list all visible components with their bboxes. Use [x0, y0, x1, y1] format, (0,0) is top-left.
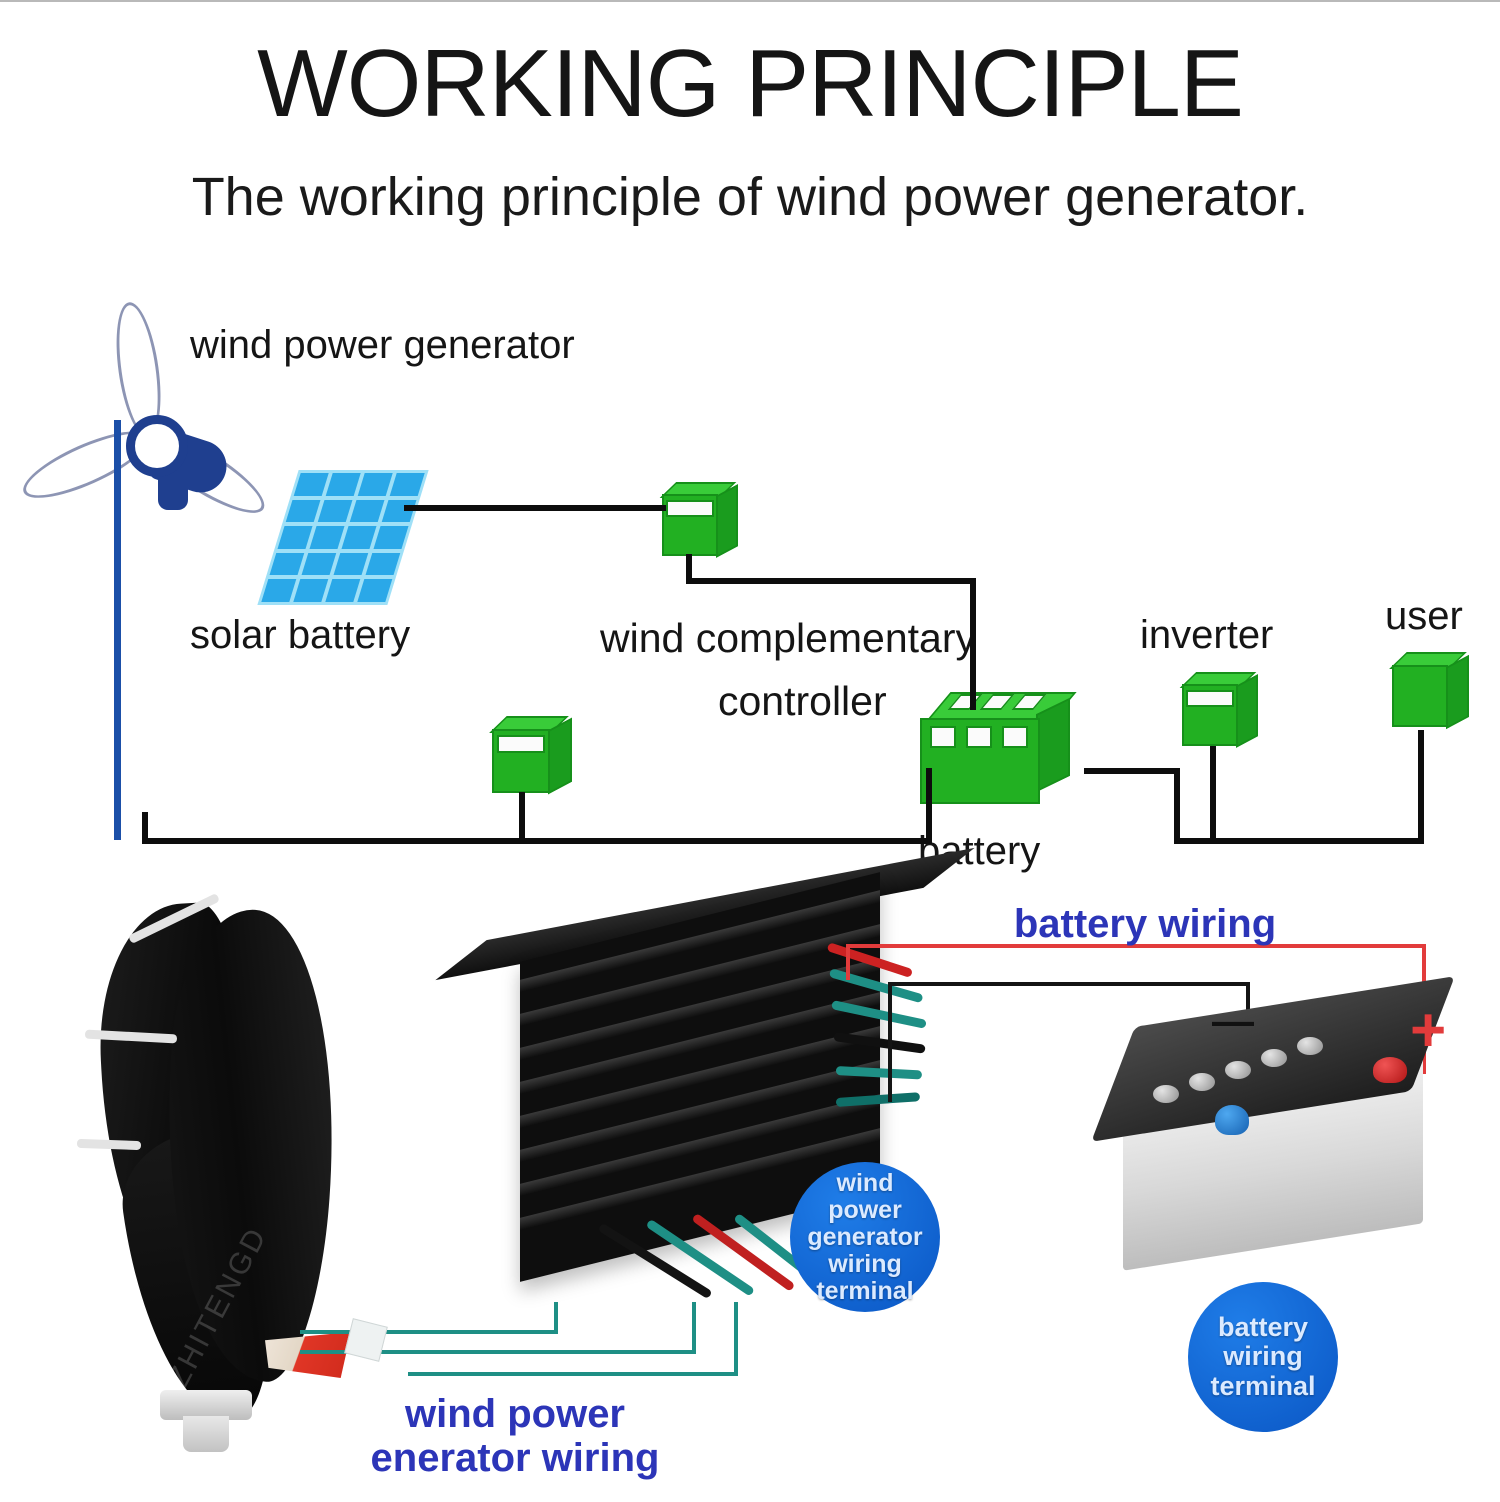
solar-cell: [357, 579, 392, 602]
callout-battery-wiring-terminal: battery wiring terminal: [1188, 1282, 1338, 1432]
wire-battery-to-inverter: [1084, 768, 1180, 774]
generator-wire-h: [408, 1372, 738, 1376]
battery-positive-terminal: [1373, 1057, 1407, 1083]
label-controller-line2: controller: [718, 680, 887, 723]
solar-cell: [294, 473, 329, 496]
solar-cell: [374, 526, 409, 549]
annotation-battery-wiring: battery wiring: [1010, 902, 1280, 946]
box-display-panel: [666, 500, 714, 517]
wire-bus-to-battery: [926, 768, 932, 842]
wire-down-to-battery: [970, 578, 976, 710]
battery-cap: [1225, 1061, 1251, 1079]
generator-wire-h: [300, 1330, 558, 1334]
annotation-generator-wiring-line2: enerator wiring: [340, 1436, 690, 1480]
system-schematic: wind power generator solar battery wind …: [0, 292, 1500, 892]
wire-user-down: [1418, 730, 1424, 842]
box-side-face: [1446, 655, 1469, 729]
annotation-generator-wiring-line1: wind power: [340, 1392, 690, 1436]
vertical-axis-turbine-photo: HUIZHITENGD: [55, 892, 355, 1452]
battery-cap: [1261, 1049, 1287, 1067]
solar-cell: [326, 473, 361, 496]
controller-box-top-icon: [660, 482, 744, 560]
wire-inverter-in-down: [1174, 768, 1180, 844]
wire-solar-to-controller: [404, 505, 666, 511]
solar-cell: [261, 579, 296, 602]
wire-inverter-to-user: [1174, 838, 1424, 844]
inverter-box-icon: [1180, 672, 1266, 752]
wire-bottom-bus: [142, 838, 932, 844]
battery-positive-wire-v: [846, 944, 850, 980]
annotation-generator-wiring: wind power enerator wiring: [340, 1392, 690, 1480]
turbine-base-stem: [183, 1416, 229, 1452]
negative-sign: —: [1212, 1000, 1254, 1042]
page-subtitle: The working principle of wind power gene…: [0, 170, 1500, 224]
solar-cell: [325, 579, 360, 602]
label-user: user: [1385, 595, 1463, 637]
wire-inverter-leg: [1210, 746, 1216, 844]
box-display-panel: [1186, 690, 1234, 707]
solar-cell: [365, 553, 400, 576]
callout-generator-wiring-terminal: wind power generator wiring terminal: [790, 1162, 940, 1312]
box-display-panel: [497, 735, 545, 753]
positive-sign: +: [1410, 1000, 1446, 1062]
box-side-face: [548, 718, 572, 795]
battery-cell: [966, 726, 992, 748]
solar-cell: [318, 500, 353, 523]
solar-cell: [278, 526, 313, 549]
solar-cell: [342, 526, 377, 549]
battery-box-icon: [920, 692, 1080, 812]
solar-cell: [286, 500, 321, 523]
battery-negative-terminal: [1215, 1105, 1249, 1135]
infographic-page: WORKING PRINCIPLE The working principle …: [0, 0, 1500, 1500]
solar-cell: [310, 526, 345, 549]
box-side-face: [716, 484, 738, 558]
solar-cell: [333, 553, 368, 576]
solar-cell: [301, 553, 336, 576]
solar-cell: [390, 473, 425, 496]
battery-cell: [1002, 726, 1028, 748]
solar-cell: [358, 473, 393, 496]
battery-negative-wire-v: [888, 982, 892, 1102]
wire-leftbox-down: [519, 792, 525, 842]
solar-cell: [350, 500, 385, 523]
solar-cell: [293, 579, 328, 602]
wire-mast-corner: [142, 812, 148, 842]
generator-wire-v: [692, 1302, 696, 1354]
turbine-hub: [126, 415, 188, 477]
label-solar-battery: solar battery: [190, 614, 410, 656]
controller-box-left-icon: [490, 716, 580, 798]
label-wind-power-generator: wind power generator: [190, 324, 575, 366]
label-inverter: inverter: [1140, 614, 1273, 656]
label-controller-line1: wind complementary: [600, 617, 976, 660]
turbine-strut: [77, 1139, 141, 1150]
user-box-icon: [1390, 652, 1478, 734]
battery-cap: [1189, 1073, 1215, 1091]
wire-topbox-right: [686, 578, 976, 584]
box-side-face: [1036, 698, 1070, 793]
box-side-face: [1236, 674, 1258, 748]
product-photo-band: HUIZHITENGD: [0, 882, 1500, 1502]
battery-cap: [1153, 1085, 1179, 1103]
battery-cell: [930, 726, 956, 748]
generator-wire-v: [734, 1302, 738, 1376]
battery-cap: [1297, 1037, 1323, 1055]
solar-cell: [269, 553, 304, 576]
car-battery-photo: [1105, 977, 1445, 1277]
turbine-mast: [114, 420, 121, 840]
page-title: WORKING PRINCIPLE: [0, 36, 1500, 132]
generator-wire-v: [554, 1302, 558, 1334]
solar-panel-icon: [257, 470, 428, 605]
box-front-face: [1392, 665, 1448, 727]
